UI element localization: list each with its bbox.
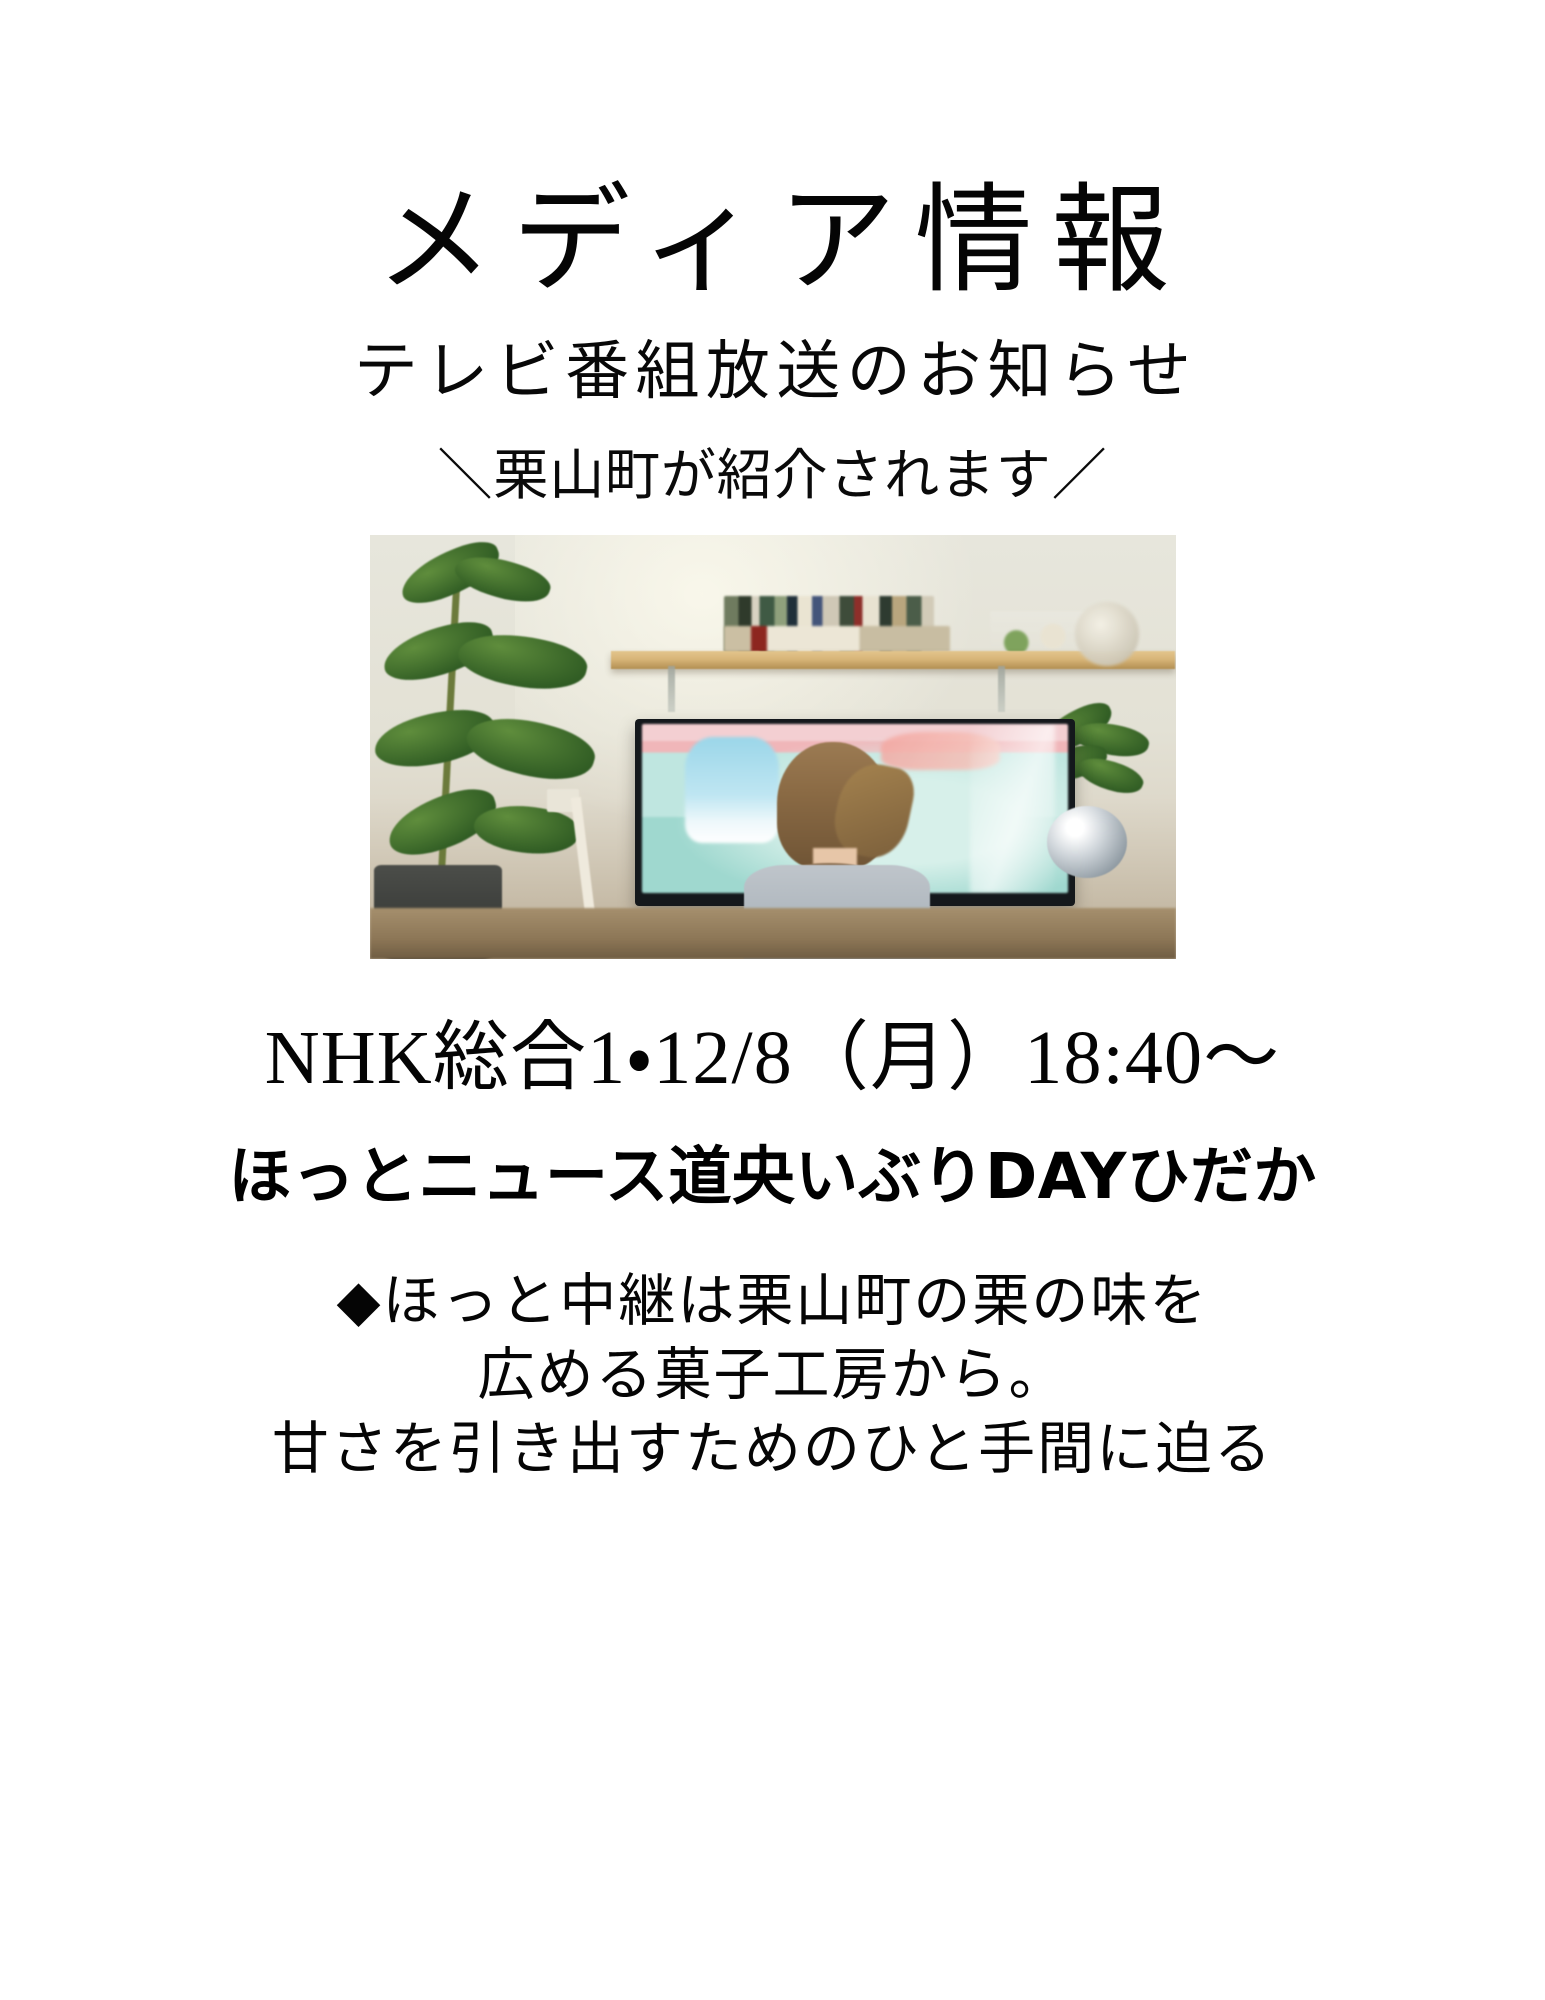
photo-container <box>370 535 1176 959</box>
mirror-ball-icon <box>1047 806 1128 878</box>
books-icon <box>724 626 950 652</box>
broadcast-channel-time: NHK総合1・12/8（月）18:40〜 <box>265 1017 1281 1101</box>
shelf-bracket-icon <box>998 666 1005 712</box>
description-line-1: ◆ほっと中継は栗山町の栗の味を <box>272 1265 1273 1339</box>
description-line-3: 甘さを引き出すためのひと手間に迫る <box>272 1413 1273 1487</box>
description-line-2: 広める菓子工房から。 <box>272 1339 1273 1413</box>
floor-icon <box>370 908 1176 959</box>
screen-glare-icon <box>970 724 1055 894</box>
page-title: メディア情報 <box>357 176 1189 308</box>
shelf-bracket-icon <box>668 666 675 712</box>
media-info-poster: メディア情報 テレビ番組放送のお知らせ ＼栗山町が紹介されます／ <box>0 0 1545 2000</box>
clock-icon <box>1075 602 1139 666</box>
tv-content-icon <box>685 737 779 842</box>
living-room-photo <box>370 535 1176 959</box>
page-subtitle: テレビ番組放送のお知らせ <box>348 334 1198 411</box>
program-description: ◆ほっと中継は栗山町の栗の味を 広める菓子工房から。 甘さを引き出すためのひと手… <box>272 1265 1273 1487</box>
program-title: ほっとニュース道央いぶりDAYひだか <box>228 1142 1316 1213</box>
tagline: ＼栗山町が紹介されます／ <box>438 445 1108 507</box>
